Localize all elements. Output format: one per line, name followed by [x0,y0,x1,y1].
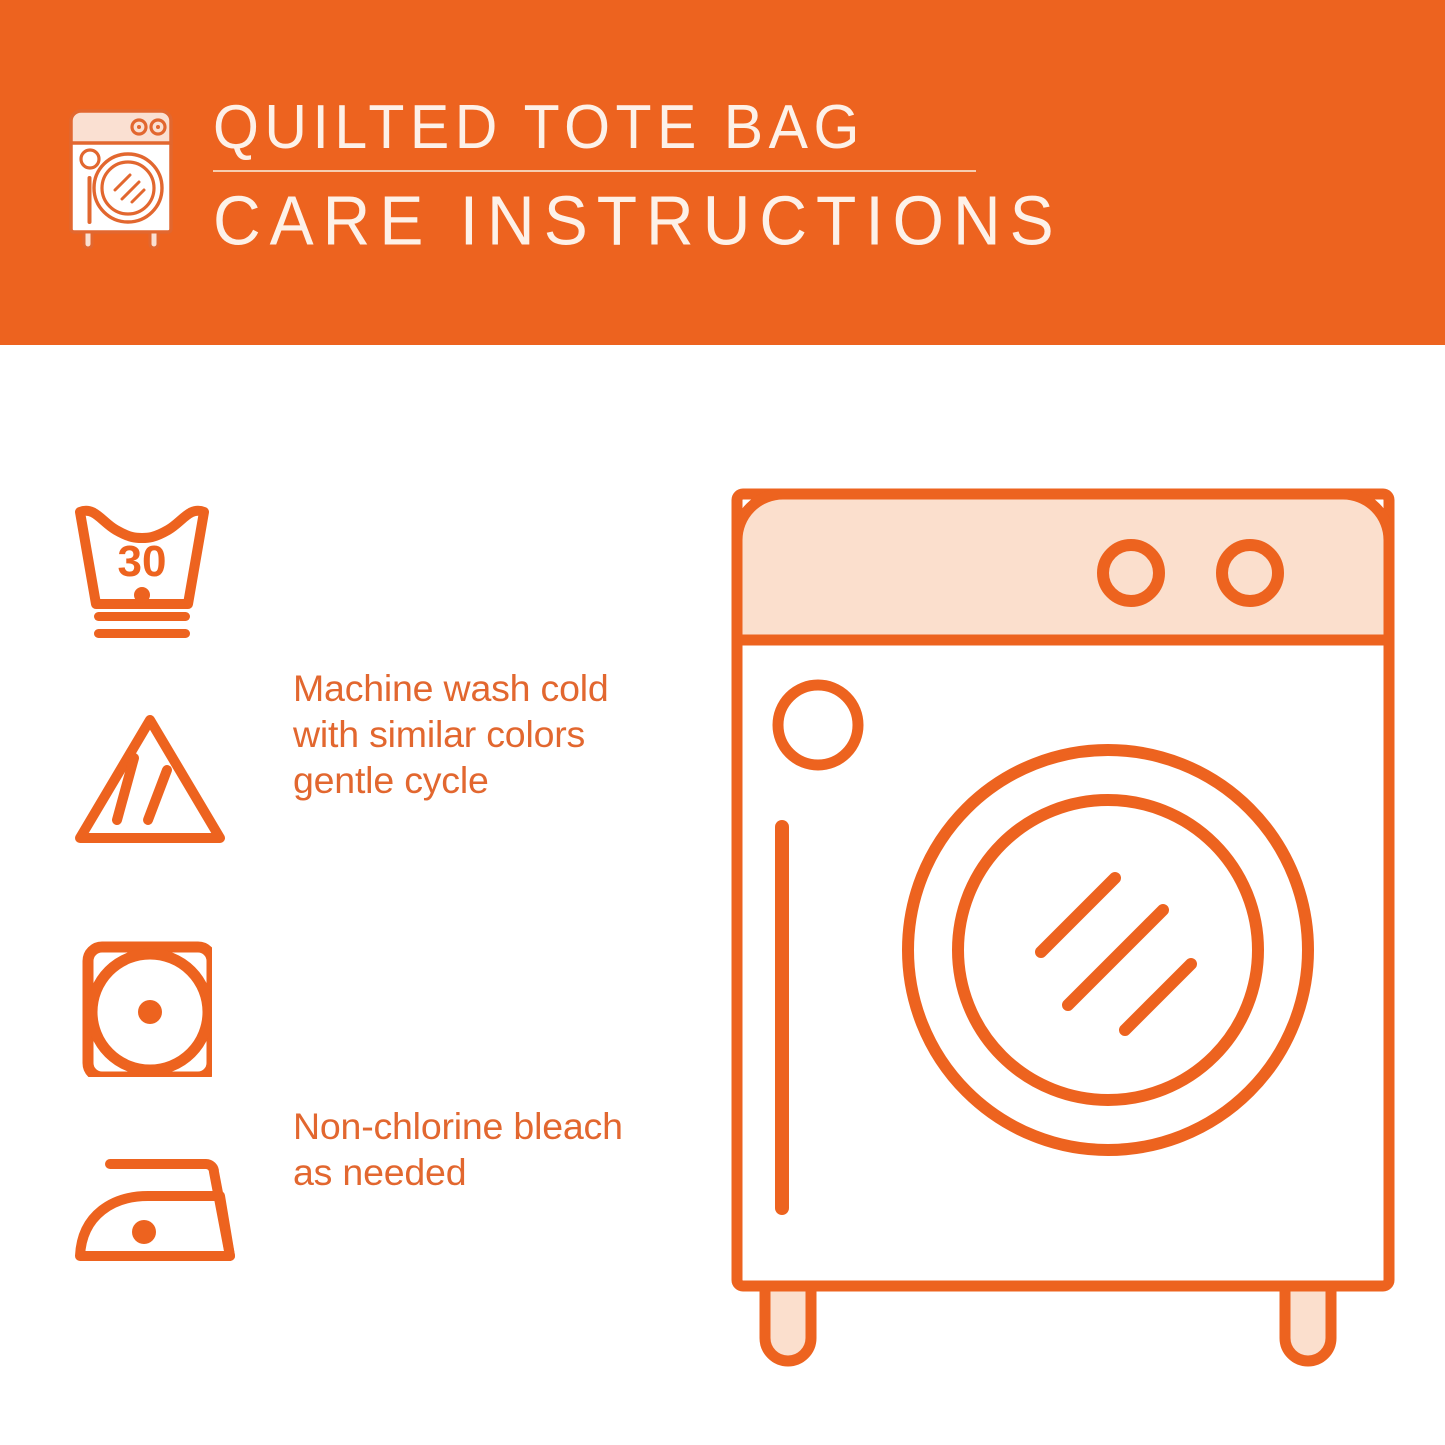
iron-low-heat-icon [72,1148,242,1278]
vertical-indicator-bar [775,820,789,1215]
header-title-block: QUILTED TOTE BAG CARE INSTRUCTIONS [213,96,1013,251]
care-instructions-poster: QUILTED TOTE BAG CARE INSTRUCTIONS 30 [0,0,1445,1445]
page-title: QUILTED TOTE BAG [213,96,1013,159]
wash-temperature-value: 30 [118,537,167,586]
page-subtitle: CARE INSTRUCTIONS [213,185,1013,255]
wash-basin-30-icon: 30 [72,500,212,645]
tumble-dry-low-icon [72,937,212,1077]
control-panel [737,494,1389,640]
header-band: QUILTED TOTE BAG CARE INSTRUCTIONS [0,0,1445,345]
care-label-machine-wash: Machine wash cold with similar colors ge… [293,666,609,803]
control-knob-right [1222,545,1278,601]
non-chlorine-bleach-triangle-icon [72,710,232,850]
washing-machine-logo-icon [62,102,180,252]
care-label-bleach: Non-chlorine bleach as needed [293,1104,623,1196]
front-load-washing-machine-illustration [723,480,1403,1380]
care-instructions-list: 30 Machine wash cold with similar colors… [0,345,700,1445]
leg-right [1285,1286,1331,1361]
control-knob-left [1103,545,1159,601]
leg-left [765,1286,811,1361]
title-divider [213,170,976,172]
